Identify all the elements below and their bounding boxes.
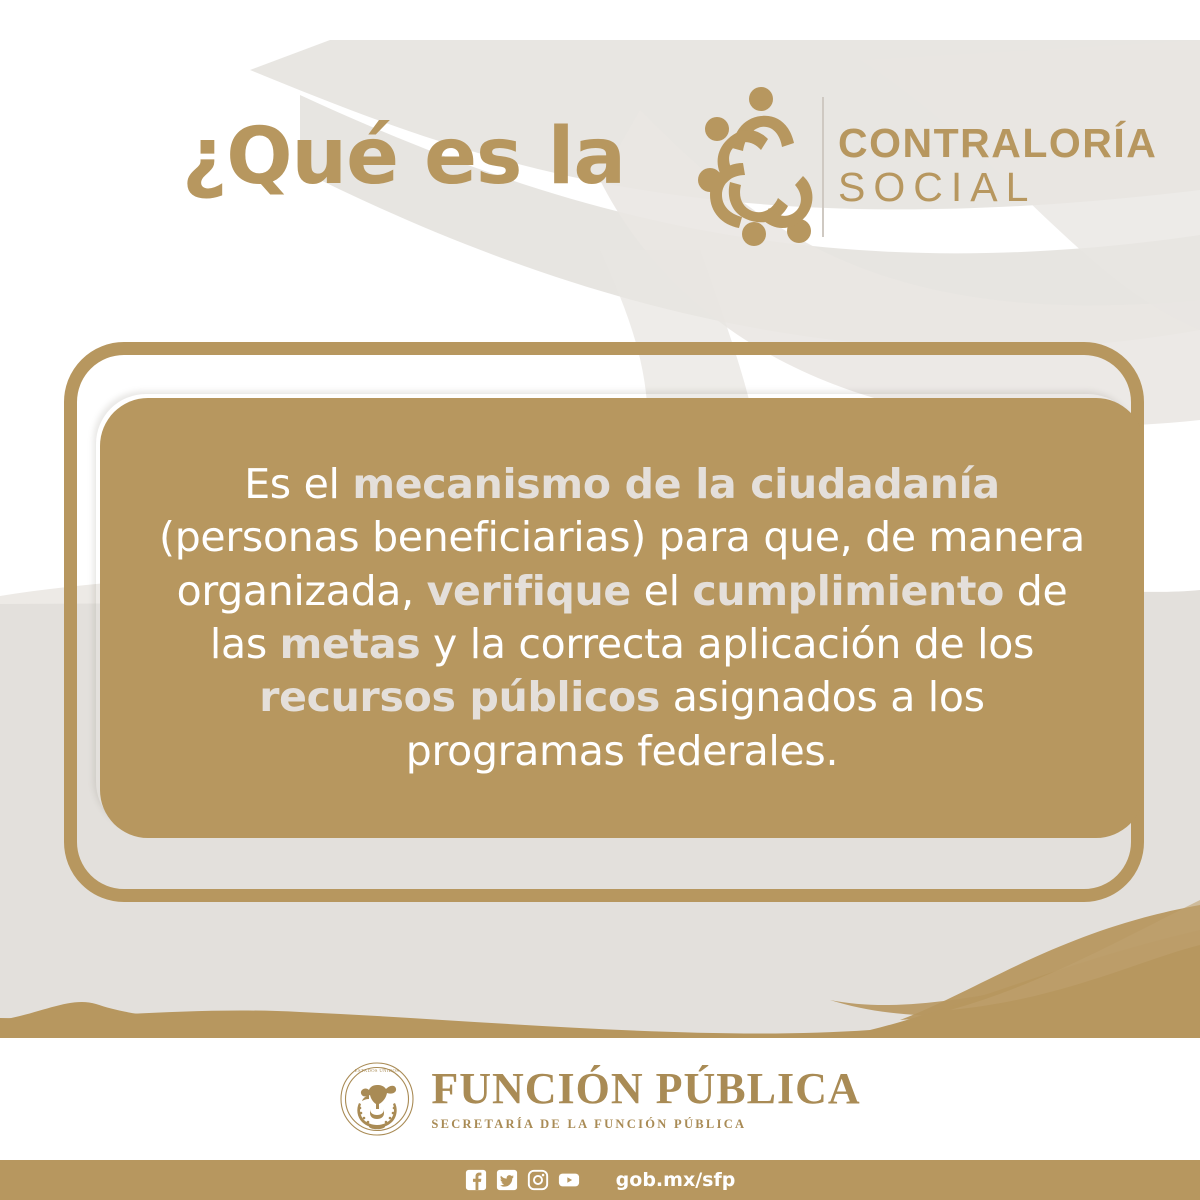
svg-text:ESTADOS UNIDOS: ESTADOS UNIDOS bbox=[355, 1068, 399, 1073]
contraloria-social-logo: CONTRALORÍA SOCIAL bbox=[698, 82, 1098, 252]
social-links bbox=[465, 1169, 580, 1191]
funcion-publica-text: FUNCIÓN PÚBLICA SECRETARÍA DE LA FUNCIÓN… bbox=[431, 1066, 860, 1132]
mexican-coat-of-arms-seal-icon: ESTADOS UNIDOS bbox=[339, 1061, 415, 1137]
bottom-bar: gob.mx/sfp bbox=[0, 1160, 1200, 1200]
contraloria-social-pinwheel-icon bbox=[698, 85, 820, 250]
emphasis-run: mecanismo de la ciudadanía bbox=[352, 460, 999, 508]
poster-canvas: ¿Qué es la bbox=[0, 0, 1200, 1200]
footer-subtitle: SECRETARÍA DE LA FUNCIÓN PÚBLICA bbox=[431, 1117, 860, 1132]
logo-line-social: SOCIAL bbox=[838, 164, 1157, 211]
logo-wordmark: CONTRALORÍA SOCIAL bbox=[838, 123, 1157, 211]
emphasis-run: verifique bbox=[427, 567, 631, 615]
text-run: Es el bbox=[244, 460, 352, 508]
logo-divider bbox=[822, 97, 824, 237]
twitter-icon[interactable] bbox=[496, 1169, 518, 1191]
text-run: y la correcta aplicación de los bbox=[420, 620, 1034, 668]
footer-band: ESTADOS UNIDOS bbox=[0, 1038, 1200, 1160]
funcion-publica-lockup: ESTADOS UNIDOS bbox=[339, 1061, 860, 1137]
page-title: ¿Qué es la bbox=[182, 118, 625, 196]
youtube-icon[interactable] bbox=[558, 1169, 580, 1191]
emphasis-run: metas bbox=[280, 620, 421, 668]
definition-paragraph: Es el mecanismo de la ciudadanía (person… bbox=[146, 458, 1098, 778]
emphasis-run: recursos públicos bbox=[259, 673, 660, 721]
footer-title: FUNCIÓN PÚBLICA bbox=[431, 1066, 860, 1112]
emphasis-run: cumplimiento bbox=[692, 567, 1004, 615]
logo-line-contraloria: CONTRALORÍA bbox=[838, 123, 1157, 164]
instagram-icon[interactable] bbox=[527, 1169, 549, 1191]
site-url[interactable]: gob.mx/sfp bbox=[616, 1169, 736, 1191]
definition-card-body: Es el mecanismo de la ciudadanía (person… bbox=[100, 398, 1144, 838]
facebook-icon[interactable] bbox=[465, 1169, 487, 1191]
text-run: el bbox=[631, 567, 692, 615]
definition-card: Es el mecanismo de la ciudadanía (person… bbox=[100, 398, 1144, 838]
